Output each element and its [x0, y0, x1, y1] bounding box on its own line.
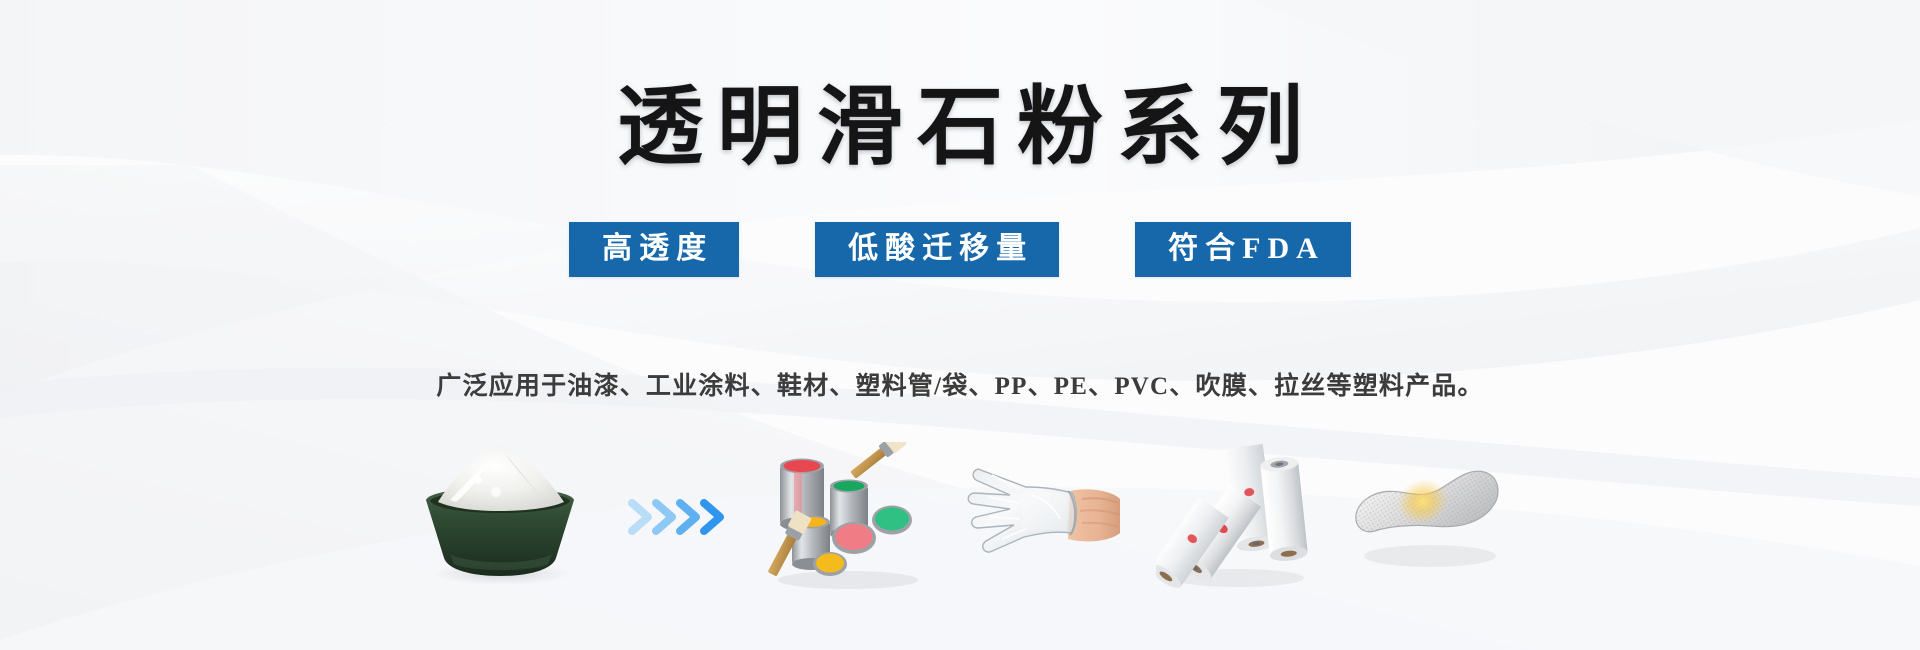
- talc-powder-bowl-image: [410, 437, 590, 597]
- banner-content: 透明滑石粉系列 高透度 低酸迁移量 符合FDA 广泛应用于油漆、工业涂料、鞋材、…: [0, 0, 1920, 650]
- shoe-sole-image: [1350, 437, 1510, 597]
- flow-arrows: [624, 487, 734, 547]
- plastic-glove-icon: [962, 447, 1122, 587]
- application-description: 广泛应用于油漆、工业涂料、鞋材、塑料管/袋、PP、PE、PVC、吹膜、拉丝等塑料…: [0, 366, 1920, 402]
- film-rolls-icon: [1156, 442, 1316, 592]
- feature-badge-fda-compliant: 符合FDA: [1135, 222, 1351, 277]
- paint-cans-image: [768, 437, 928, 597]
- paint-cans-icon: [768, 442, 928, 592]
- chevron-right-arrows-icon: [624, 493, 734, 541]
- product-image-strip: [0, 432, 1920, 602]
- feature-badge-high-transparency: 高透度: [569, 222, 739, 277]
- powder-bowl-icon: [410, 442, 590, 592]
- film-rolls-image: [1156, 437, 1316, 597]
- shoe-sole-icon: [1350, 452, 1510, 582]
- page-title: 透明滑石粉系列: [0, 84, 1920, 170]
- feature-badge-low-acid-migration: 低酸迁移量: [815, 222, 1059, 277]
- feature-badge-list: 高透度 低酸迁移量 符合FDA: [0, 222, 1920, 277]
- product-banner: 透明滑石粉系列 高透度 低酸迁移量 符合FDA 广泛应用于油漆、工业涂料、鞋材、…: [0, 0, 1920, 650]
- plastic-glove-image: [962, 437, 1122, 597]
